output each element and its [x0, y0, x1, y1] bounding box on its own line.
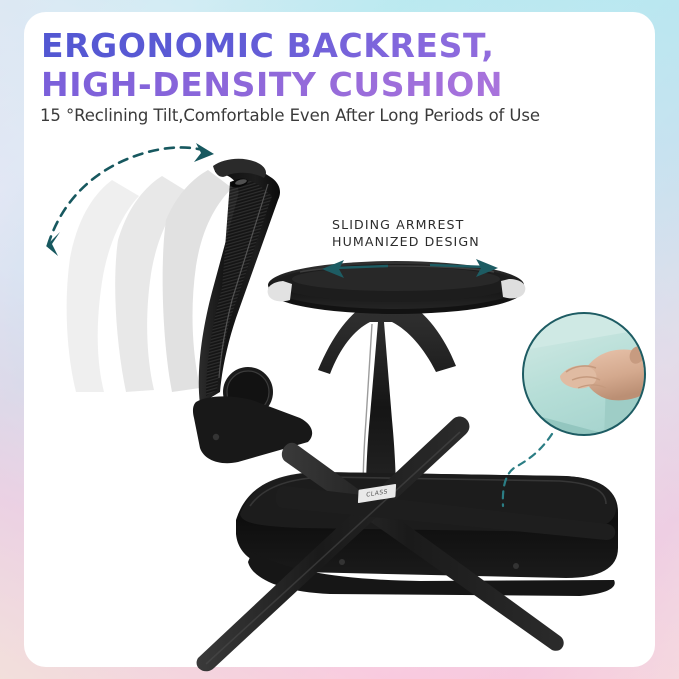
armrest-support-post	[318, 300, 456, 496]
product-illustration	[0, 0, 679, 679]
infographic-page: ERGONOMIC BACKREST, HIGH-DENSITY CUSHION…	[0, 0, 679, 679]
foam-density-inset	[523, 313, 652, 442]
